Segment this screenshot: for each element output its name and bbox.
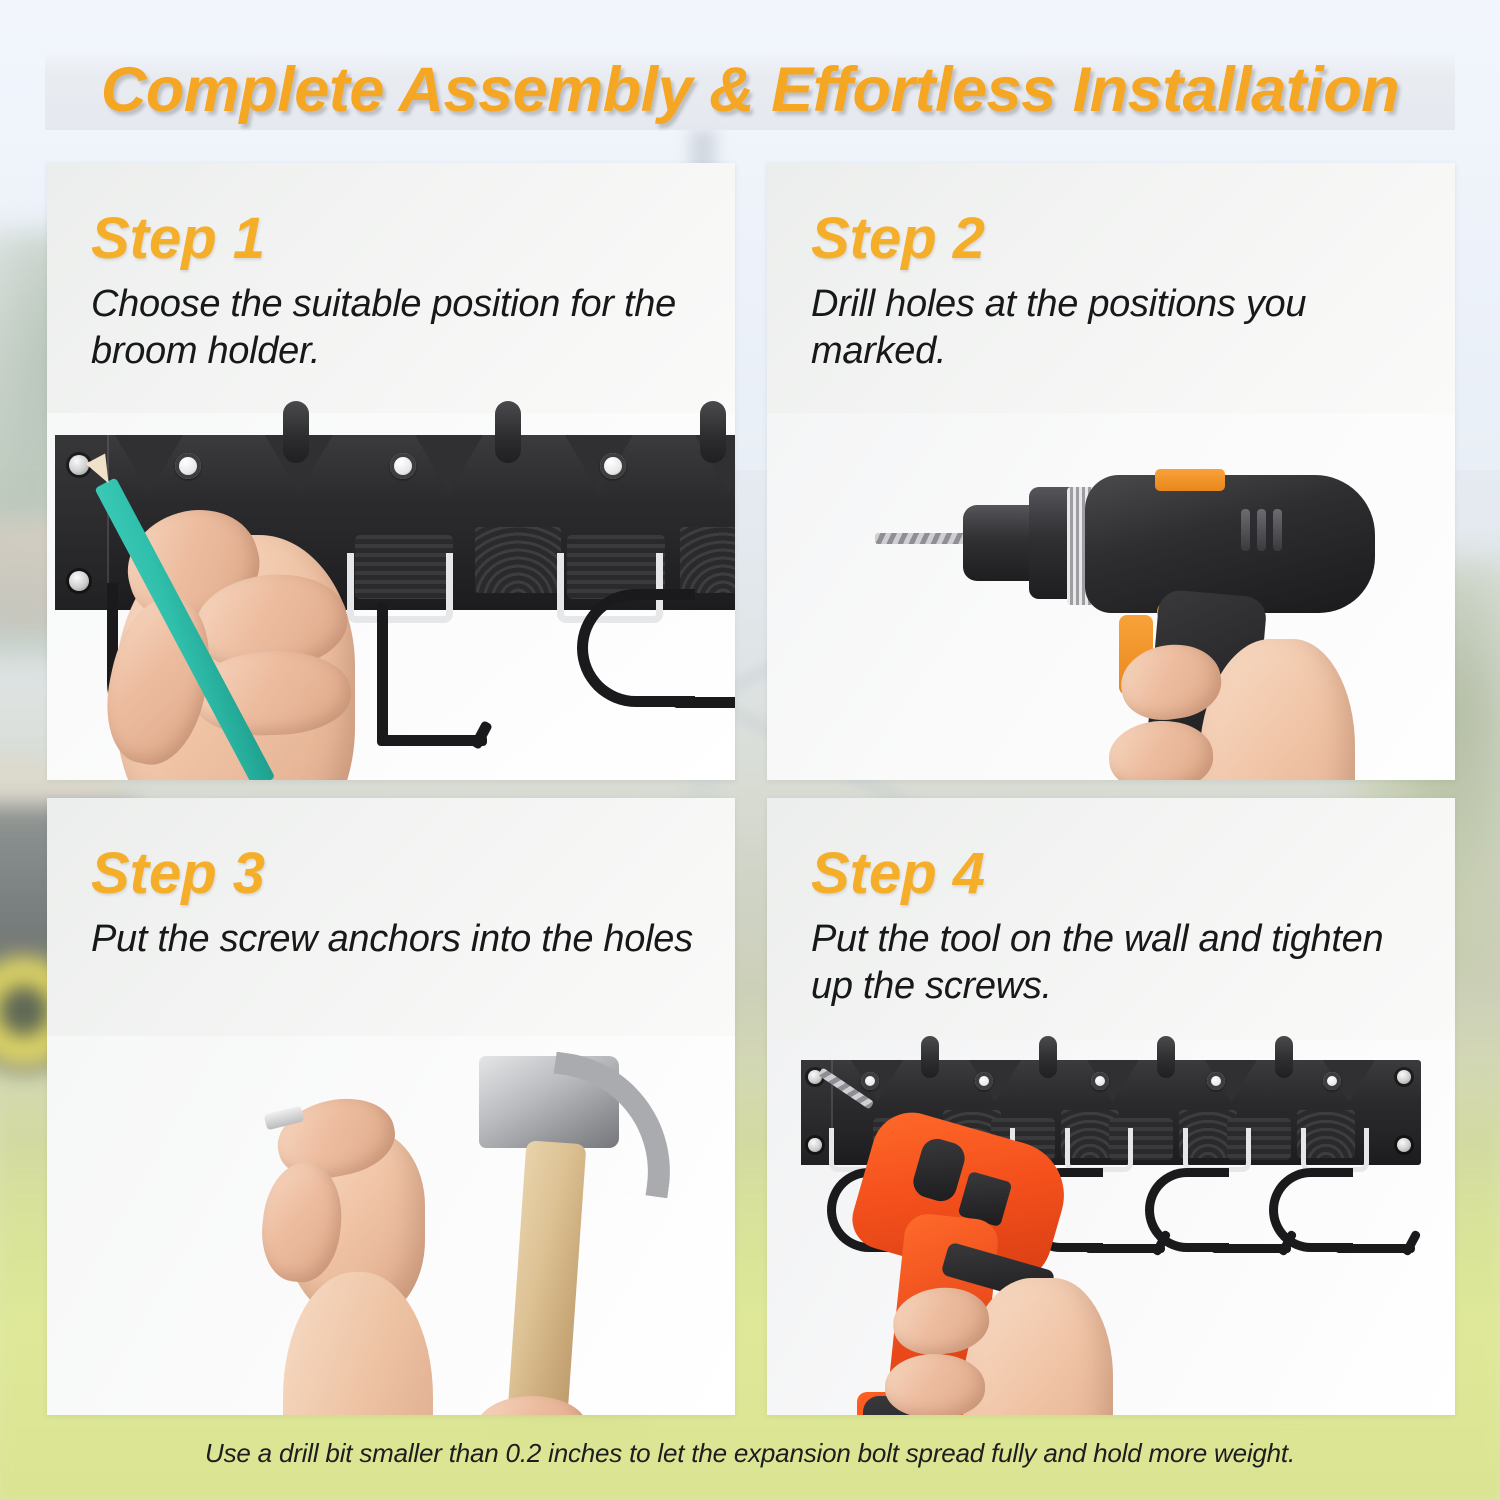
rail-knob (700, 401, 726, 463)
step-3-photo (47, 1036, 735, 1415)
palm (1199, 639, 1355, 780)
footer-note: Use a drill bit smaller than 0.2 inches … (0, 1438, 1500, 1469)
step-1-head: Step 1 Choose the suitable position for … (91, 209, 709, 374)
rail-fan-pad (680, 527, 735, 593)
rail-knob (921, 1036, 939, 1078)
hand-holding-pencil (75, 455, 455, 780)
step-panel-3: Step 3 Put the screw anchors into the ho… (47, 798, 735, 1415)
rail-screw-hole-top (1397, 1070, 1411, 1084)
step-3-head: Step 3 Put the screw anchors into the ho… (91, 844, 709, 963)
hand-holding-orange-drill (885, 1252, 1125, 1415)
step-2-photo (767, 413, 1455, 780)
palm (963, 1278, 1113, 1415)
drill-body (1085, 475, 1375, 613)
drill-top-accent (1155, 469, 1225, 491)
step-2-head: Step 2 Drill holes at the positions you … (811, 209, 1429, 374)
rail-mount-hole (975, 1072, 993, 1090)
drill-vent (1257, 509, 1266, 551)
step-panel-1: Step 1 Choose the suitable position for … (47, 163, 735, 780)
rail-knob (1157, 1036, 1175, 1078)
finger (477, 1396, 587, 1415)
step-2-description: Drill holes at the positions you marked. (811, 281, 1429, 374)
rail-knob (495, 401, 521, 463)
step-1-photo (47, 413, 735, 780)
rail-mount-hole (1091, 1072, 1109, 1090)
rail-chrome-clip (1183, 1128, 1251, 1172)
page-title: Complete Assembly & Effortless Installat… (0, 54, 1500, 126)
step-1-label: Step 1 (91, 209, 709, 269)
rail-knob (283, 401, 309, 463)
rail-mount-hole (861, 1072, 879, 1090)
step-2-label: Step 2 (811, 209, 1429, 269)
step-4-description: Put the tool on the wall and tighten up … (811, 916, 1429, 1009)
rail-mount-hole (1323, 1072, 1341, 1090)
rail-screw-hole-bottom (1397, 1138, 1411, 1152)
drill-vent (1273, 509, 1282, 551)
hand-holding-drill (1103, 609, 1363, 780)
step-3-description: Put the screw anchors into the holes (91, 916, 709, 962)
step-panel-2: Step 2 Drill holes at the positions you … (767, 163, 1455, 780)
drill-vent (1241, 509, 1250, 551)
rail-chrome-clip (1301, 1128, 1369, 1172)
rail-mount-hole (1207, 1072, 1225, 1090)
rail-chrome-clip (1065, 1128, 1133, 1172)
step-panel-4: Step 4 Put the tool on the wall and tigh… (767, 798, 1455, 1415)
step-4-photo (767, 1040, 1455, 1415)
step-4-label: Step 4 (811, 844, 1429, 904)
finger (1107, 718, 1215, 780)
rail-knob (1275, 1036, 1293, 1078)
rail-fan-pad (475, 527, 561, 593)
step-4-head: Step 4 Put the tool on the wall and tigh… (811, 844, 1429, 1009)
rail-knob (1039, 1036, 1057, 1078)
hand-holding-hammer (451, 1386, 671, 1415)
finger (885, 1354, 985, 1415)
rail-mount-hole (600, 453, 626, 479)
rail-screw-hole-bottom (808, 1138, 822, 1152)
step-3-label: Step 3 (91, 844, 709, 904)
step-1-description: Choose the suitable position for the bro… (91, 281, 709, 374)
steps-grid: Step 1 Choose the suitable position for … (47, 163, 1455, 1415)
